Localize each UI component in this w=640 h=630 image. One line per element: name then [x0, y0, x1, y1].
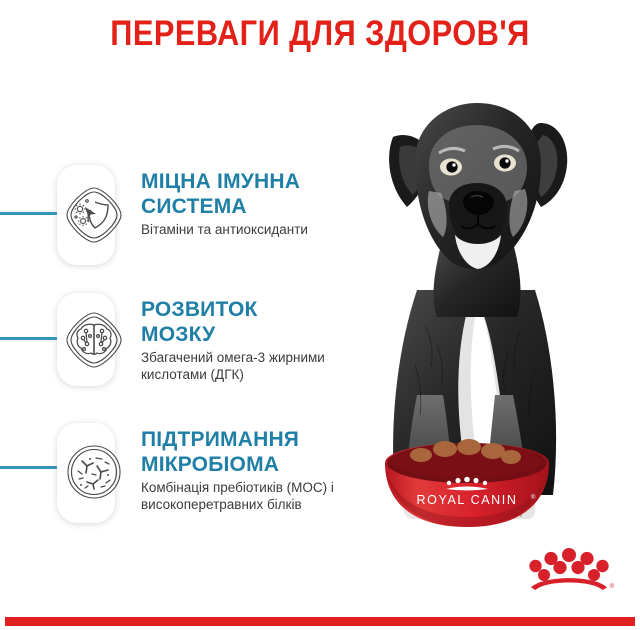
puppy-head [389, 103, 567, 269]
page-title: ПЕРЕВАГИ ДЛЯ ЗДОРОВ'Я [38, 14, 601, 54]
bowl-trademark: ® [531, 494, 536, 501]
bowl-brand-text: ROYAL CANIN [417, 493, 518, 507]
german-shepherd-puppy-photo: ROYAL CANIN ® [345, 95, 640, 565]
brain-icon [63, 309, 125, 371]
shield-germs-icon [63, 184, 125, 246]
logo-trademark: ® [610, 583, 615, 590]
microbiome-petri-dish-icon [63, 441, 125, 503]
bottom-red-bar [5, 617, 635, 626]
product-benefits-banner: ПЕРЕВАГИ ДЛЯ ЗДОРОВ'Я [0, 0, 640, 630]
connector-line-immune [0, 212, 57, 215]
royal-canin-crown-logo: ® [524, 546, 614, 594]
connector-line-microbiome [0, 466, 57, 469]
connector-line-brain [0, 337, 57, 340]
